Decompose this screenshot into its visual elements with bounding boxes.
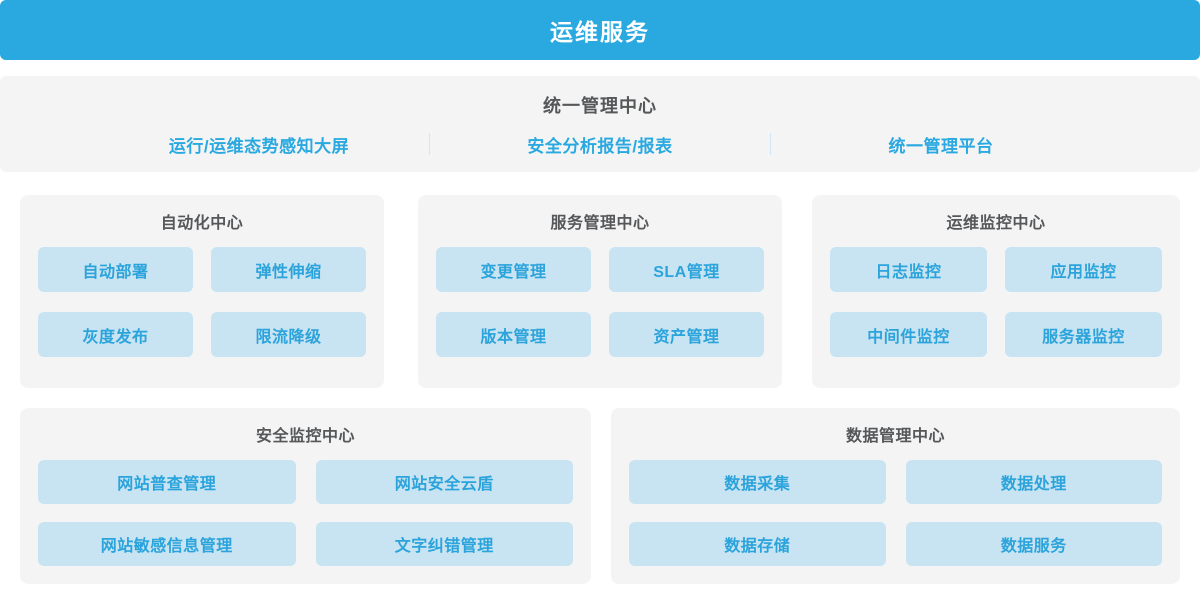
tag-data-service[interactable]: 数据服务 xyxy=(906,522,1163,566)
tag-version-management[interactable]: 版本管理 xyxy=(436,312,591,357)
tag-sla-management[interactable]: SLA管理 xyxy=(609,247,764,292)
tag-change-management[interactable]: 变更管理 xyxy=(436,247,591,292)
panel-title-automation-center: 自动化中心 xyxy=(20,209,384,233)
tag-auto-deploy[interactable]: 自动部署 xyxy=(38,247,193,292)
mgmt-link-security-analysis-report[interactable]: 安全分析报告/报表 xyxy=(430,132,770,157)
unified-management-center-links: 运行/运维态势感知大屏 安全分析报告/报表 统一管理平台 xyxy=(0,132,1200,157)
unified-management-center-title: 统一管理中心 xyxy=(543,92,657,118)
architecture-diagram: 运维服务 统一管理中心 运行/运维态势感知大屏 安全分析报告/报表 统一管理平台… xyxy=(0,0,1200,602)
tag-grid-data-management-center: 数据采集 数据处理 数据存储 数据服务 xyxy=(611,460,1180,584)
tag-rate-limit-degradation[interactable]: 限流降级 xyxy=(211,312,366,357)
panel-title-data-management-center: 数据管理中心 xyxy=(611,422,1180,446)
tag-elastic-scaling[interactable]: 弹性伸缩 xyxy=(211,247,366,292)
panel-ops-monitoring-center: 运维监控中心 日志监控 应用监控 中间件监控 服务器监控 xyxy=(812,195,1180,388)
tag-grid-automation-center: 自动部署 弹性伸缩 灰度发布 限流降级 xyxy=(20,247,384,375)
panel-title-ops-monitoring-center: 运维监控中心 xyxy=(812,209,1180,233)
tag-data-collection[interactable]: 数据采集 xyxy=(629,460,886,504)
tag-asset-management[interactable]: 资产管理 xyxy=(609,312,764,357)
mgmt-link-situational-awareness-screen[interactable]: 运行/运维态势感知大屏 xyxy=(89,132,429,157)
unified-management-center-band: 统一管理中心 运行/运维态势感知大屏 安全分析报告/报表 统一管理平台 xyxy=(0,76,1200,172)
tag-data-storage[interactable]: 数据存储 xyxy=(629,522,886,566)
panel-security-monitoring-center: 安全监控中心 网站普查管理 网站安全云盾 网站敏感信息管理 文字纠错管理 xyxy=(20,408,591,584)
tag-website-security-cloud-shield[interactable]: 网站安全云盾 xyxy=(316,460,574,504)
tag-gray-release[interactable]: 灰度发布 xyxy=(38,312,193,357)
tag-data-processing[interactable]: 数据处理 xyxy=(906,460,1163,504)
mgmt-link-unified-management-platform[interactable]: 统一管理平台 xyxy=(771,132,1111,157)
tag-grid-service-management-center: 变更管理 SLA管理 版本管理 资产管理 xyxy=(418,247,782,375)
tag-server-monitoring[interactable]: 服务器监控 xyxy=(1005,312,1162,357)
panel-data-management-center: 数据管理中心 数据采集 数据处理 数据存储 数据服务 xyxy=(611,408,1180,584)
panel-title-service-management-center: 服务管理中心 xyxy=(418,209,782,233)
page-title: 运维服务 xyxy=(550,13,650,47)
tag-text-correction-management[interactable]: 文字纠错管理 xyxy=(316,522,574,566)
page-banner: 运维服务 xyxy=(0,0,1200,60)
tag-website-sensitive-info-management[interactable]: 网站敏感信息管理 xyxy=(38,522,296,566)
tag-website-census-management[interactable]: 网站普查管理 xyxy=(38,460,296,504)
panel-title-security-monitoring-center: 安全监控中心 xyxy=(20,422,591,446)
panel-service-management-center: 服务管理中心 变更管理 SLA管理 版本管理 资产管理 xyxy=(418,195,782,388)
panel-automation-center: 自动化中心 自动部署 弹性伸缩 灰度发布 限流降级 xyxy=(20,195,384,388)
tag-application-monitoring[interactable]: 应用监控 xyxy=(1005,247,1162,292)
tag-grid-ops-monitoring-center: 日志监控 应用监控 中间件监控 服务器监控 xyxy=(812,247,1180,375)
tag-middleware-monitoring[interactable]: 中间件监控 xyxy=(830,312,987,357)
tag-grid-security-monitoring-center: 网站普查管理 网站安全云盾 网站敏感信息管理 文字纠错管理 xyxy=(20,460,591,584)
tag-log-monitoring[interactable]: 日志监控 xyxy=(830,247,987,292)
